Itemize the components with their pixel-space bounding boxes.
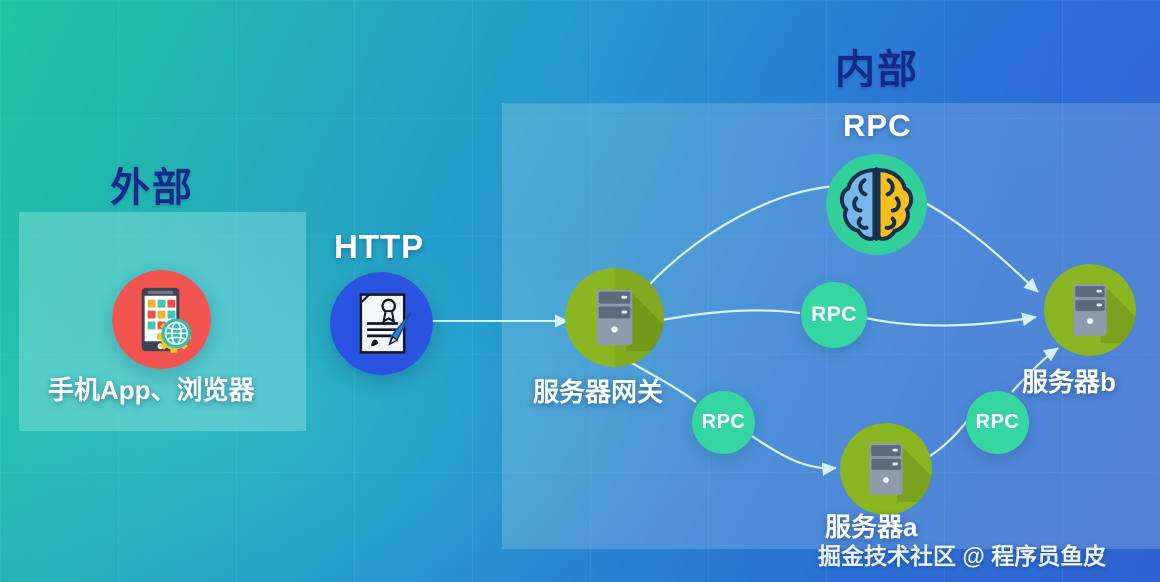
brain-icon[interactable]	[826, 154, 927, 255]
watermark-text: 掘金技术社区 @ 程序员鱼皮	[818, 537, 1106, 571]
server-tower-icon[interactable]	[565, 268, 664, 367]
client-node-caption: 手机App、浏览器	[48, 370, 255, 407]
rpc-protocol-label: RPC	[843, 108, 911, 144]
rpc-badge-lower-left[interactable]: RPC	[692, 391, 755, 454]
server-tower-icon[interactable]	[1044, 264, 1136, 356]
gateway-node-caption: 服务器网关	[533, 372, 663, 409]
server-b-caption: 服务器b	[1022, 362, 1116, 399]
mobile-app-browser-icon[interactable]	[112, 270, 211, 369]
http-protocol-label: HTTP	[334, 228, 424, 266]
server-tower-icon[interactable]	[840, 423, 932, 515]
certificate-document-icon[interactable]	[330, 272, 433, 375]
internal-zone-title: 内部	[835, 37, 919, 95]
rpc-badge-middle[interactable]: RPC	[801, 282, 867, 348]
diagram-canvas: 外部 内部 HTTP RPC	[0, 0, 1160, 582]
rpc-badge-lower-right[interactable]: RPC	[966, 391, 1029, 454]
external-zone-title: 外部	[110, 155, 194, 213]
